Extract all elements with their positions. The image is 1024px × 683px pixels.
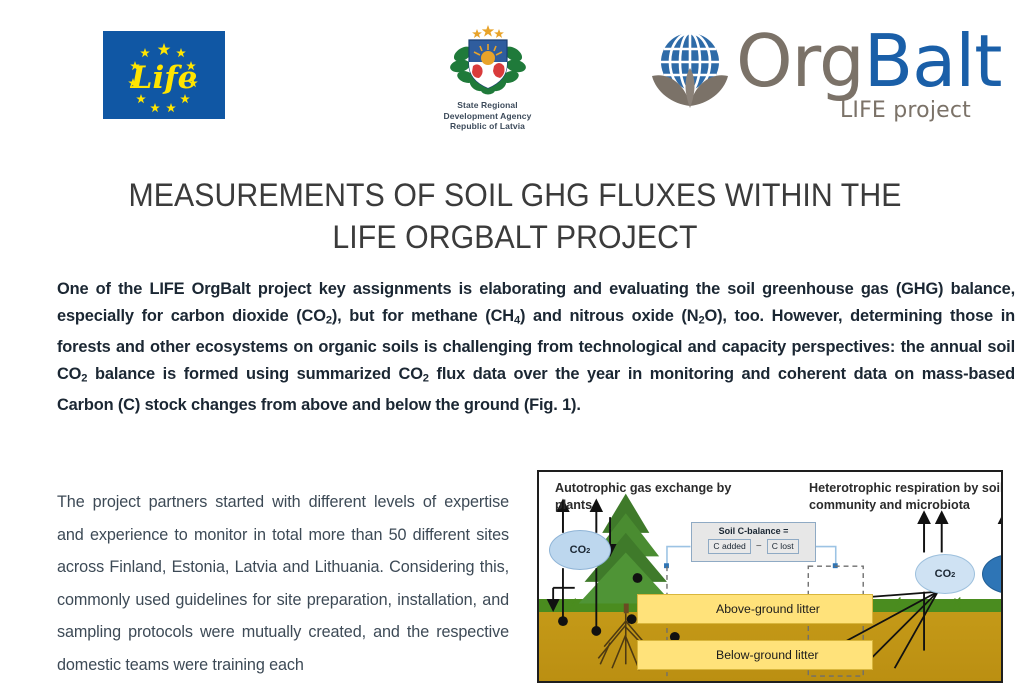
figure-caption-right: Heterotrophic respiration by soil commun…	[809, 480, 1003, 514]
sra-line-3: Republic of Latvia	[430, 121, 545, 132]
document-page: Life	[0, 0, 1024, 683]
globe-leaf-icon	[648, 28, 732, 112]
below-ground-litter-box: Below-ground litter	[637, 640, 873, 670]
bubble-soil-co2: CO2	[915, 554, 975, 594]
bubble-plant-co2: CO2	[549, 530, 611, 570]
lead-part-3: ) and nitrous oxide (N	[520, 307, 698, 325]
orgbalt-wordmark: OrgBalt	[736, 18, 1001, 104]
bubble-soil-co2-label: CO	[935, 568, 952, 580]
sra-line-1: State Regional	[430, 100, 545, 111]
life-logo-graphic: Life	[103, 31, 225, 119]
bubble-soil-ch4: CH4	[982, 554, 1003, 594]
page-title: MEASUREMENTS OF SOIL GHG FLUXES WITHIN T…	[106, 174, 924, 258]
c-lost-cell: C lost	[767, 539, 799, 554]
sra-line-2: Development Agency	[430, 111, 545, 122]
life-eu-logo: Life	[103, 31, 225, 119]
below-ground-litter-label: Below-ground litter	[716, 648, 819, 662]
latvia-coat-of-arms-icon	[449, 22, 527, 98]
orgbalt-logo: OrgBalt LIFE project	[648, 24, 973, 124]
c-balance-minus: −	[756, 541, 762, 552]
above-ground-litter-box: Above-ground litter	[637, 594, 873, 624]
orgbalt-subtitle: LIFE project	[840, 98, 971, 123]
lead-part-5: balance is formed using summarized CO	[87, 365, 422, 383]
bubble-plant-co2-sub: 2	[586, 546, 590, 555]
c-balance-title: Soil C-balance =	[696, 526, 811, 537]
figure-soil-carbon-balance: Autotrophic gas exchange by plants Heter…	[537, 470, 1003, 683]
bubble-soil-ch4-label: CH	[1001, 568, 1003, 580]
life-wordmark: Life	[130, 60, 198, 96]
body-paragraph: The project partners started with differ…	[57, 486, 509, 681]
c-added-cell: C added	[708, 539, 751, 554]
figure-caption-left: Autotrophic gas exchange by plants	[555, 480, 735, 514]
bubble-plant-co2-label: CO	[570, 544, 587, 556]
sra-latvia-logo: State Regional Development Agency Republ…	[430, 22, 545, 130]
soil-c-balance-box: Soil C-balance = C added − C lost	[691, 522, 816, 562]
bubble-soil-co2-sub: 2	[951, 570, 955, 579]
logo-header: Life	[0, 0, 1024, 140]
above-ground-litter-label: Above-ground litter	[716, 602, 820, 616]
lead-paragraph: One of the LIFE OrgBalt project key assi…	[57, 276, 1015, 418]
orgbalt-word-balt: Balt	[864, 19, 1002, 103]
sra-logo-text: State Regional Development Agency Republ…	[430, 100, 545, 132]
lead-part-2: ), but for methane (CH	[332, 307, 514, 325]
orgbalt-word-org: Org	[736, 19, 864, 103]
